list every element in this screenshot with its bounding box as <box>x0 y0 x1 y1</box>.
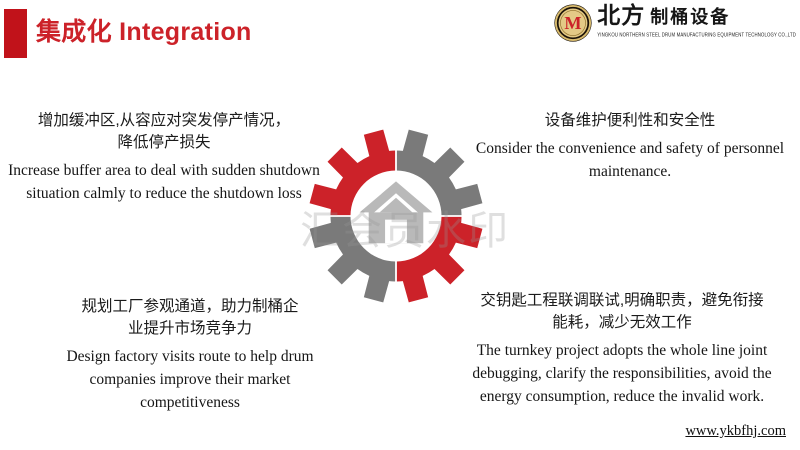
header-accent-bar <box>4 9 27 58</box>
logo-name-sub: 制桶设备 <box>650 7 730 27</box>
page-header: 集成化 Integration M 北方制桶设备 YINGKOU NORTHER… <box>0 0 800 62</box>
logo-name-main: 北方 <box>597 2 645 28</box>
logo-company-name-en: YINGKOU NORTHERN STEEL DRUM MANUFACTURIN… <box>597 30 796 39</box>
gear-graphic <box>305 122 487 310</box>
svg-text:M: M <box>565 13 582 33</box>
callout-factory-visits-en: Design factory visits route to help drum… <box>45 345 335 414</box>
callout-maintenance-en: Consider the convenience and safety of p… <box>470 137 790 183</box>
callout-turnkey-project: 交钥匙工程联调联试,明确职责，避免衔接 能耗，减少无效工作 The turnke… <box>452 290 792 408</box>
callout-buffer: 增加缓冲区,从容应对突发停产情况， 降低停产损失 Increase buffer… <box>8 110 320 205</box>
logo-emblem-icon: M <box>554 4 592 42</box>
page-title: 集成化 Integration <box>36 12 252 48</box>
callout-buffer-cn: 增加缓冲区,从容应对突发停产情况， 降低停产损失 <box>8 110 320 154</box>
website-url-link[interactable]: www.ykbfhj.com <box>685 423 786 440</box>
callout-turnkey-project-en: The turnkey project adopts the whole lin… <box>452 339 792 408</box>
logo-company-name-cn: 北方制桶设备 <box>597 3 730 29</box>
callout-maintenance-cn: 设备维护便利性和安全性 <box>470 110 790 132</box>
callout-factory-visits: 规划工厂参观通道，助力制桶企 业提升市场竞争力 Design factory v… <box>45 296 335 414</box>
house-icon <box>360 181 433 243</box>
logo-text-block: 北方制桶设备 YINGKOU NORTHERN STEEL DRUM MANUF… <box>597 3 796 37</box>
callout-maintenance: 设备维护便利性和安全性 Consider the convenience and… <box>470 110 790 183</box>
callout-factory-visits-cn: 规划工厂参观通道，助力制桶企 业提升市场竞争力 <box>45 296 335 340</box>
company-logo: M 北方制桶设备 YINGKOU NORTHERN STEEL DRUM MAN… <box>554 3 796 47</box>
callout-buffer-en: Increase buffer area to deal with sudden… <box>8 159 320 205</box>
callout-turnkey-project-cn: 交钥匙工程联调联试,明确职责，避免衔接 能耗，减少无效工作 <box>452 290 792 334</box>
